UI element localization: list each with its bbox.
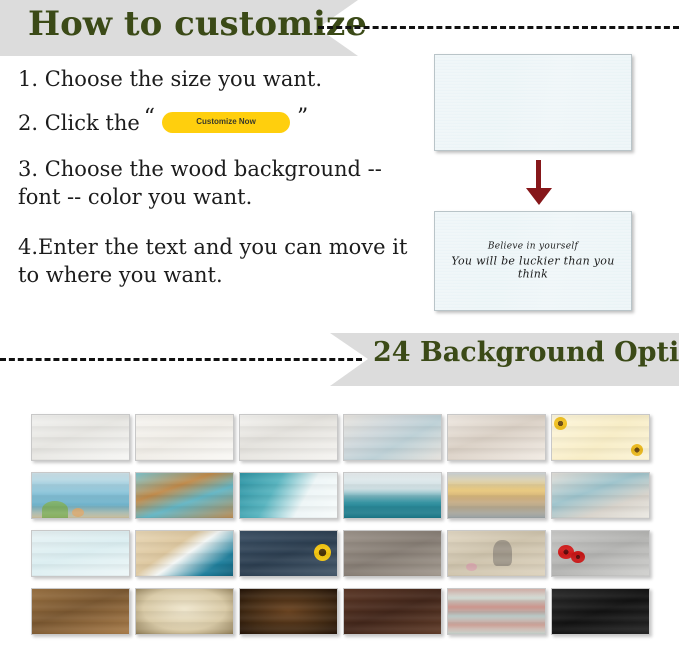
options-dashed-line bbox=[0, 358, 362, 361]
swatch-grey-brown-barnwood[interactable] bbox=[343, 530, 442, 577]
options-title: 24 Background Options bbox=[373, 337, 679, 368]
swatch-buddha-zen-planks[interactable] bbox=[447, 530, 546, 577]
customized-sign-preview: Believe in yourself You will be luckier … bbox=[434, 211, 632, 311]
arrow-head bbox=[526, 188, 552, 205]
sunflower-icon bbox=[631, 444, 643, 456]
step-1: 1. Choose the size you want. bbox=[18, 68, 418, 90]
swatch-row bbox=[31, 414, 651, 459]
shell-icon bbox=[72, 508, 84, 517]
swatch-distressed-white-script[interactable] bbox=[239, 414, 338, 461]
steps-list: 1. Choose the size you want. 2. Click th… bbox=[18, 68, 418, 311]
step-3: 3. Choose the wood background -- font --… bbox=[18, 155, 418, 212]
swatch-teal-ombre-planks[interactable] bbox=[343, 472, 442, 519]
swatch-grey-planks-red-poppies[interactable] bbox=[551, 530, 650, 577]
arrow-stem bbox=[536, 160, 541, 190]
swatch-light-beige-planks[interactable] bbox=[135, 414, 234, 461]
sign-line-1: Believe in yourself bbox=[435, 242, 631, 252]
close-quote: ” bbox=[297, 106, 308, 129]
swatch-row bbox=[31, 530, 651, 575]
header-dashed-line bbox=[318, 26, 679, 29]
buddha-silhouette bbox=[493, 540, 512, 566]
swatch-coral-reef-underwater[interactable] bbox=[31, 472, 130, 519]
sign-text-block: Believe in yourself You will be luckier … bbox=[435, 242, 631, 281]
swatch-rustic-teal-peeling-paint[interactable] bbox=[135, 472, 234, 519]
swatch-golden-sunset-sea[interactable] bbox=[447, 472, 546, 519]
swatch-white-washed-planks[interactable] bbox=[31, 414, 130, 461]
blank-sign-preview bbox=[434, 54, 632, 151]
coral-icon bbox=[42, 501, 68, 518]
step-4: 4.Enter the text and you can move it to … bbox=[18, 233, 418, 290]
swatch-row bbox=[31, 472, 651, 517]
background-options-grid bbox=[31, 414, 651, 646]
sign-line-2: You will be luckier than you think bbox=[435, 255, 631, 281]
swatch-navy-planks-sunflower[interactable] bbox=[239, 530, 338, 577]
swatch-taupe-weathered-wood[interactable] bbox=[447, 414, 546, 461]
page-title: How to customize bbox=[28, 4, 367, 44]
swatch-beach-shoreline-waves[interactable] bbox=[135, 530, 234, 577]
swatch-grey-blue-brick-planks[interactable] bbox=[343, 414, 442, 461]
swatch-black-chalkboard-wood[interactable] bbox=[551, 588, 650, 635]
customize-now-button[interactable]: Customize Now bbox=[162, 112, 290, 132]
swatch-dark-oak-planks[interactable] bbox=[31, 588, 130, 635]
swatch-row bbox=[31, 588, 651, 633]
open-quote: “ bbox=[144, 106, 155, 129]
swatch-cream-sunflower[interactable] bbox=[551, 414, 650, 461]
infographic-page: How to customize 1. Choose the size you … bbox=[0, 0, 679, 642]
sunflower-icon bbox=[314, 544, 331, 561]
swatch-teal-white-splash[interactable] bbox=[239, 472, 338, 519]
lotus-icon bbox=[466, 563, 477, 571]
step-2-prefix: 2. Click the bbox=[18, 112, 140, 134]
poppy-icon bbox=[571, 551, 585, 563]
swatch-dark-walnut-planks[interactable] bbox=[343, 588, 442, 635]
step-2: 2. Click the “ Customize Now ” bbox=[18, 111, 418, 134]
swatch-pale-blue-wood[interactable] bbox=[31, 530, 130, 577]
swatch-aged-parchment[interactable] bbox=[135, 588, 234, 635]
swatch-pastel-stripe-planks[interactable] bbox=[447, 588, 546, 635]
down-arrow-icon bbox=[524, 160, 554, 206]
sunflower-icon bbox=[554, 417, 567, 430]
swatch-deep-brown-grunge[interactable] bbox=[239, 588, 338, 635]
swatch-blue-grey-distressed-wood[interactable] bbox=[551, 472, 650, 519]
